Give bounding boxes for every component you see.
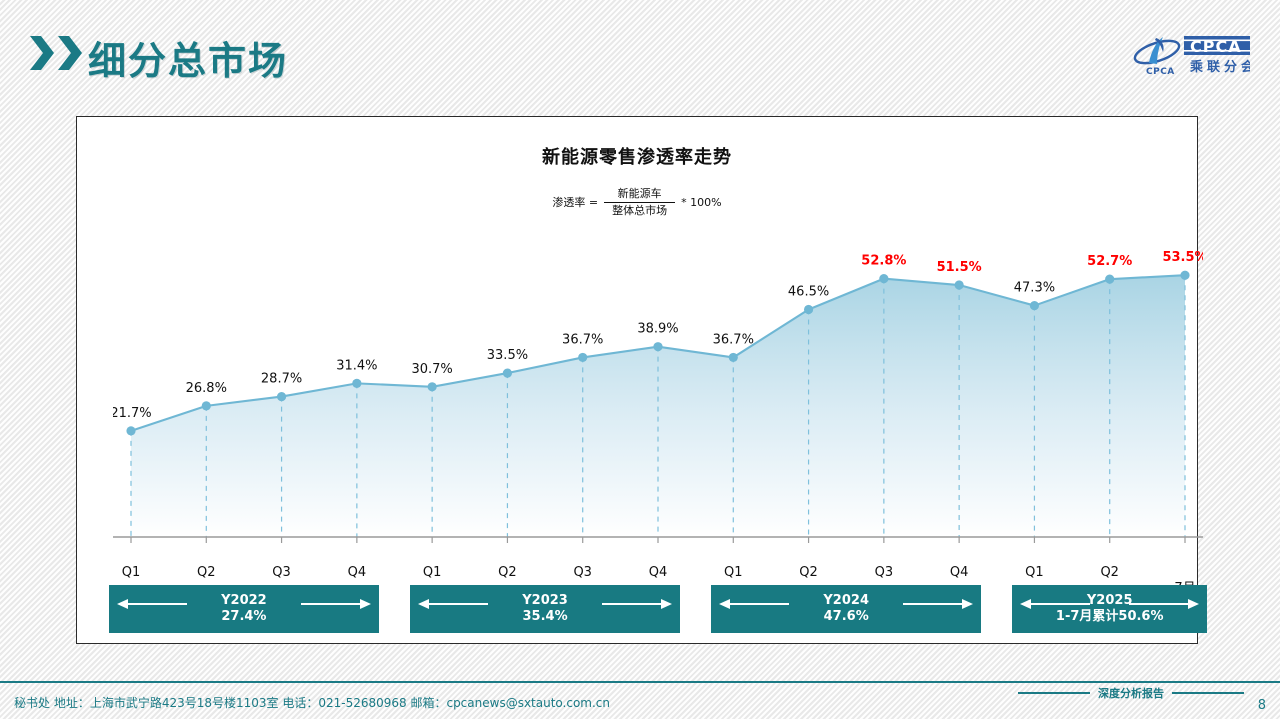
footer-divider [0,681,1280,683]
arrow-left-icon [719,599,789,609]
formula-tail: * 100% [681,196,721,209]
data-point-label: 38.9% [637,322,678,337]
year-banner: Y202335.4% [410,585,680,633]
x-axis-tick-label: Q2 [1100,565,1119,580]
data-point-label: 33.5% [487,348,528,363]
data-point-marker [428,382,437,391]
page-number: 8 [1258,698,1266,713]
x-axis-tick-label: Q2 [197,565,216,580]
data-point-marker [578,353,587,362]
data-point-marker [653,342,662,351]
x-axis-tick-label: Q4 [950,565,969,580]
year-banner-value: 47.6% [823,609,869,625]
year-banner-text: Y202335.4% [522,593,568,626]
data-point-label: 36.7% [713,332,754,347]
svg-text:CPCA: CPCA [1190,37,1242,56]
data-point-label: 52.8% [861,254,906,269]
year-banner-year: Y2025 [1056,593,1164,609]
x-axis-tick-label: Q3 [875,565,894,580]
x-axis-tick-label: Q4 [649,565,668,580]
data-point-marker [955,280,964,289]
data-point-label: 52.7% [1087,254,1132,269]
data-point-marker [1180,271,1189,280]
year-banner-year: Y2022 [221,593,267,609]
svg-text:乘联分会: 乘联分会 [1189,59,1250,75]
data-point-label: 30.7% [411,362,452,377]
year-banner-text: Y202447.6% [823,593,869,626]
page-header: 细分总市场 CPCA CPCA 乘联分会 [0,0,1280,108]
data-point-label: 31.4% [336,358,377,373]
double-chevron-right-icon [30,36,84,70]
arrow-right-icon [301,599,371,609]
data-point-marker [1030,301,1039,310]
x-axis-tick-label: Q1 [1025,565,1044,580]
page-title: 细分总市场 [88,30,288,85]
data-point-marker [1105,275,1114,284]
year-banner: Y20251-7月累计50.6% [1012,585,1207,633]
arrow-left-icon [418,599,488,609]
formula-numerator: 新能源车 [610,187,670,202]
area-chart-plot: 21.7%26.8%28.7%31.4%30.7%33.5%36.7%38.9%… [113,249,1203,559]
data-point-label: 26.8% [186,381,227,396]
year-banner-year: Y2024 [823,593,869,609]
footer-report-label-group: 深度分析报告 [1018,685,1244,701]
cpca-logo: CPCA CPCA 乘联分会 [1132,30,1250,78]
data-point-marker [503,368,512,377]
year-banner-text: Y20251-7月累计50.6% [1056,593,1164,626]
footer-report-label: 深度分析报告 [1098,685,1164,701]
data-point-marker [277,392,286,401]
penetration-formula: 渗透率 = 新能源车 整体总市场 * 100% [77,187,1197,218]
data-point-label: 47.3% [1014,281,1055,296]
data-point-label: 53.5% [1162,250,1203,265]
year-banner: Y202227.4% [109,585,379,633]
svg-text:CPCA: CPCA [1146,67,1175,77]
data-point-label: 46.5% [788,284,829,299]
arrow-left-icon [117,599,187,609]
data-point-label: 28.7% [261,372,302,387]
chart-title: 新能源零售渗透率走势 [77,143,1197,169]
footer-contact: 秘书处 地址：上海市武宁路423号18号楼1103室 电话：021-526809… [14,694,610,711]
data-point-label: 51.5% [937,260,982,275]
year-banner-group: Y202227.4%Y202335.4%Y202447.6%Y20251-7月累… [113,585,1203,637]
footer-rule-left [1018,692,1090,694]
x-axis-tick-label: Q1 [423,565,442,580]
data-point-marker [352,379,361,388]
data-point-marker [729,353,738,362]
x-axis-tick-label: Q4 [348,565,367,580]
x-axis-tick-label: Q3 [272,565,291,580]
year-banner-value: 1-7月累计50.6% [1056,609,1164,625]
data-point-label: 21.7% [113,406,152,421]
year-banner: Y202447.6% [711,585,981,633]
data-point-marker [804,305,813,314]
data-point-marker [202,401,211,410]
year-banner-text: Y202227.4% [221,593,267,626]
year-banner-value: 27.4% [221,609,267,625]
formula-lead: 渗透率 = [552,194,598,210]
x-axis-tick-label: Q2 [799,565,818,580]
data-point-label: 36.7% [562,332,603,347]
arrow-right-icon [602,599,672,609]
formula-denominator: 整体总市场 [604,202,675,218]
chart-card: 新能源零售渗透率走势 渗透率 = 新能源车 整体总市场 * 100% 21.7%… [76,116,1198,644]
formula-fraction: 新能源车 整体总市场 [604,187,675,218]
arrow-right-icon [903,599,973,609]
x-axis-tick-label: Q1 [122,565,141,580]
data-point-marker [879,274,888,283]
x-axis-tick-label: Q2 [498,565,517,580]
x-axis-tick-label: Q1 [724,565,743,580]
data-point-marker [126,426,135,435]
year-banner-year: Y2023 [522,593,568,609]
footer-rule-right [1172,692,1244,694]
x-axis-tick-label: Q3 [573,565,592,580]
year-banner-value: 35.4% [522,609,568,625]
